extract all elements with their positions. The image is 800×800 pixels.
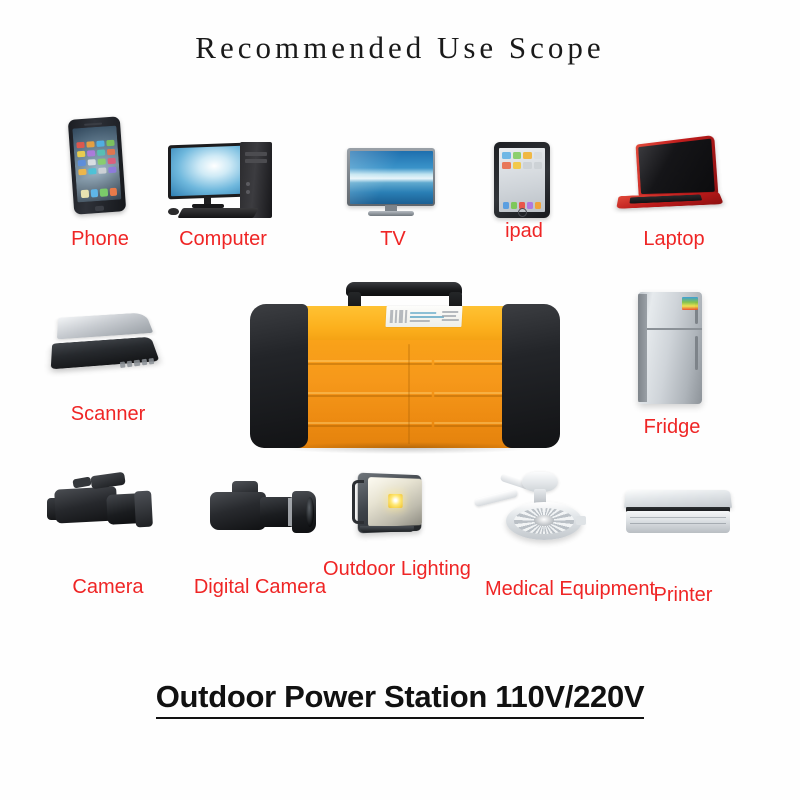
product-shadow (280, 442, 530, 454)
item-fridge: Fridge (632, 292, 712, 442)
item-label-computer: Computer (163, 228, 283, 251)
item-label-printer: Printer (617, 584, 749, 607)
infographic-canvas: Recommended Use Scope (0, 0, 800, 800)
item-digital-camera: Digital Camera (205, 478, 365, 608)
product-spec-label (385, 306, 462, 327)
item-tv: TV (347, 148, 439, 258)
item-laptop: Laptop (618, 140, 730, 260)
laptop-icon (618, 140, 730, 220)
phone-icon (71, 118, 127, 218)
page-title: Recommended Use Scope (0, 30, 800, 66)
product-handle (346, 282, 462, 296)
product-front-panel (268, 340, 542, 448)
product-left-endcap (250, 304, 308, 448)
flatbed-scanner-icon (52, 308, 162, 398)
item-label-outdoor-lighting: Outdoor Lighting (307, 558, 487, 581)
item-scanner: Scanner (52, 308, 168, 438)
item-label-fridge: Fridge (624, 416, 720, 439)
television-icon (347, 148, 439, 218)
item-label-phone: Phone (55, 228, 145, 251)
item-ipad: ipad (494, 142, 556, 252)
portable-printer-icon (625, 488, 735, 543)
item-phone: Phone (55, 118, 145, 258)
product-right-endcap (502, 304, 560, 448)
dslr-camera-icon (210, 478, 322, 548)
item-outdoor-lighting: Outdoor Lighting (352, 470, 442, 600)
item-printer: Printer (625, 488, 741, 618)
floodlight-icon (352, 470, 436, 540)
product-headline: Outdoor Power Station 110V/220V (0, 679, 800, 715)
item-computer: Computer (168, 140, 278, 260)
camcorder-icon (45, 472, 163, 542)
tablet-icon (494, 142, 554, 222)
surgical-lamp-icon (472, 472, 592, 548)
outdoor-power-station-product (250, 282, 560, 462)
item-label-tv: TV (347, 228, 439, 251)
item-label-scanner: Scanner (50, 403, 166, 426)
desktop-computer-icon (168, 140, 278, 222)
item-label-laptop: Laptop (618, 228, 730, 251)
refrigerator-icon (638, 292, 706, 408)
item-label-ipad: ipad (476, 220, 572, 243)
product-headline-text: Outdoor Power Station 110V/220V (156, 679, 645, 719)
